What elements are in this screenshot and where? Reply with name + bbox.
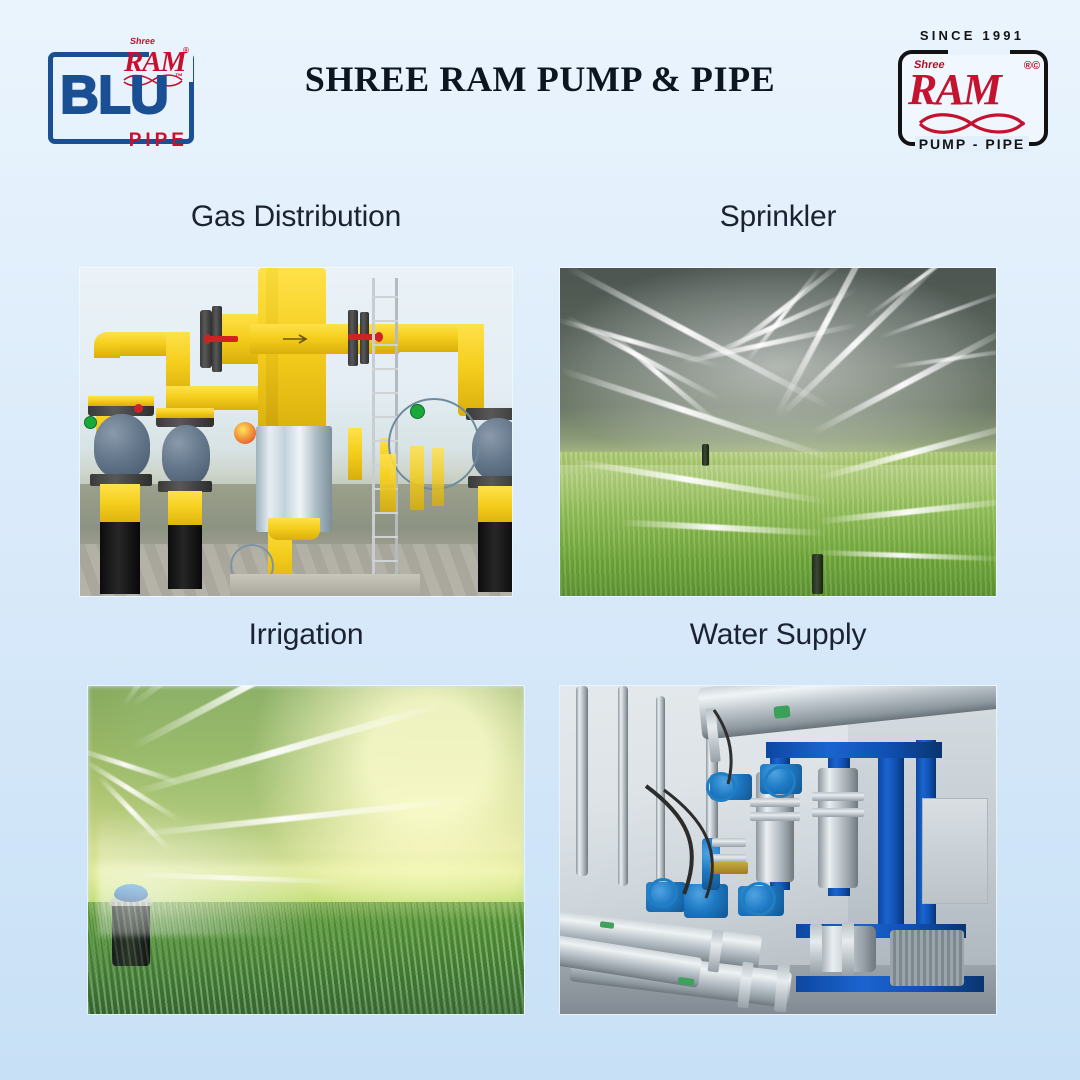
blu-registered-icon: ® bbox=[183, 46, 189, 55]
category-photo-irrigation[interactable] bbox=[88, 686, 524, 1014]
category-label-irrigation: Irrigation bbox=[88, 618, 524, 652]
blu-shree-text: Shree bbox=[129, 36, 155, 46]
ram-main-text: RAM bbox=[908, 68, 1000, 112]
category-label-sprinkler: Sprinkler bbox=[560, 200, 996, 234]
ram-frame-gap-top bbox=[948, 50, 1010, 55]
category-photo-sprinkler[interactable] bbox=[560, 268, 996, 596]
since-text: SINCE 1991 bbox=[892, 28, 1052, 43]
category-card-sprinkler[interactable]: Sprinkler bbox=[560, 200, 996, 596]
poster-header: Shree RAM ® BLU ™ PIPE SHREE RAM PUMP & … bbox=[0, 0, 1080, 175]
ram-flourish-icon bbox=[916, 112, 1028, 134]
category-photo-gas-distribution[interactable] bbox=[80, 268, 512, 596]
blu-pipe-text: PIPE bbox=[129, 130, 188, 152]
shree-ram-pump-pipe-logo[interactable]: SINCE 1991 Shree RAM ®© PUMP - PIPE bbox=[892, 28, 1052, 150]
category-card-irrigation[interactable]: Irrigation bbox=[88, 618, 524, 1014]
pump-pipe-text: PUMP - PIPE bbox=[892, 136, 1052, 152]
ram-registered-copyright-icon: ®© bbox=[1024, 60, 1040, 72]
category-label-water-supply: Water Supply bbox=[560, 618, 996, 652]
category-label-gas-distribution: Gas Distribution bbox=[80, 200, 512, 234]
category-photo-water-supply[interactable] bbox=[560, 686, 996, 1014]
category-card-gas-distribution[interactable]: Gas Distribution bbox=[80, 200, 512, 596]
category-card-water-supply[interactable]: Water Supply bbox=[560, 618, 996, 1014]
poster-canvas: Shree RAM ® BLU ™ PIPE SHREE RAM PUMP & … bbox=[0, 0, 1080, 1080]
